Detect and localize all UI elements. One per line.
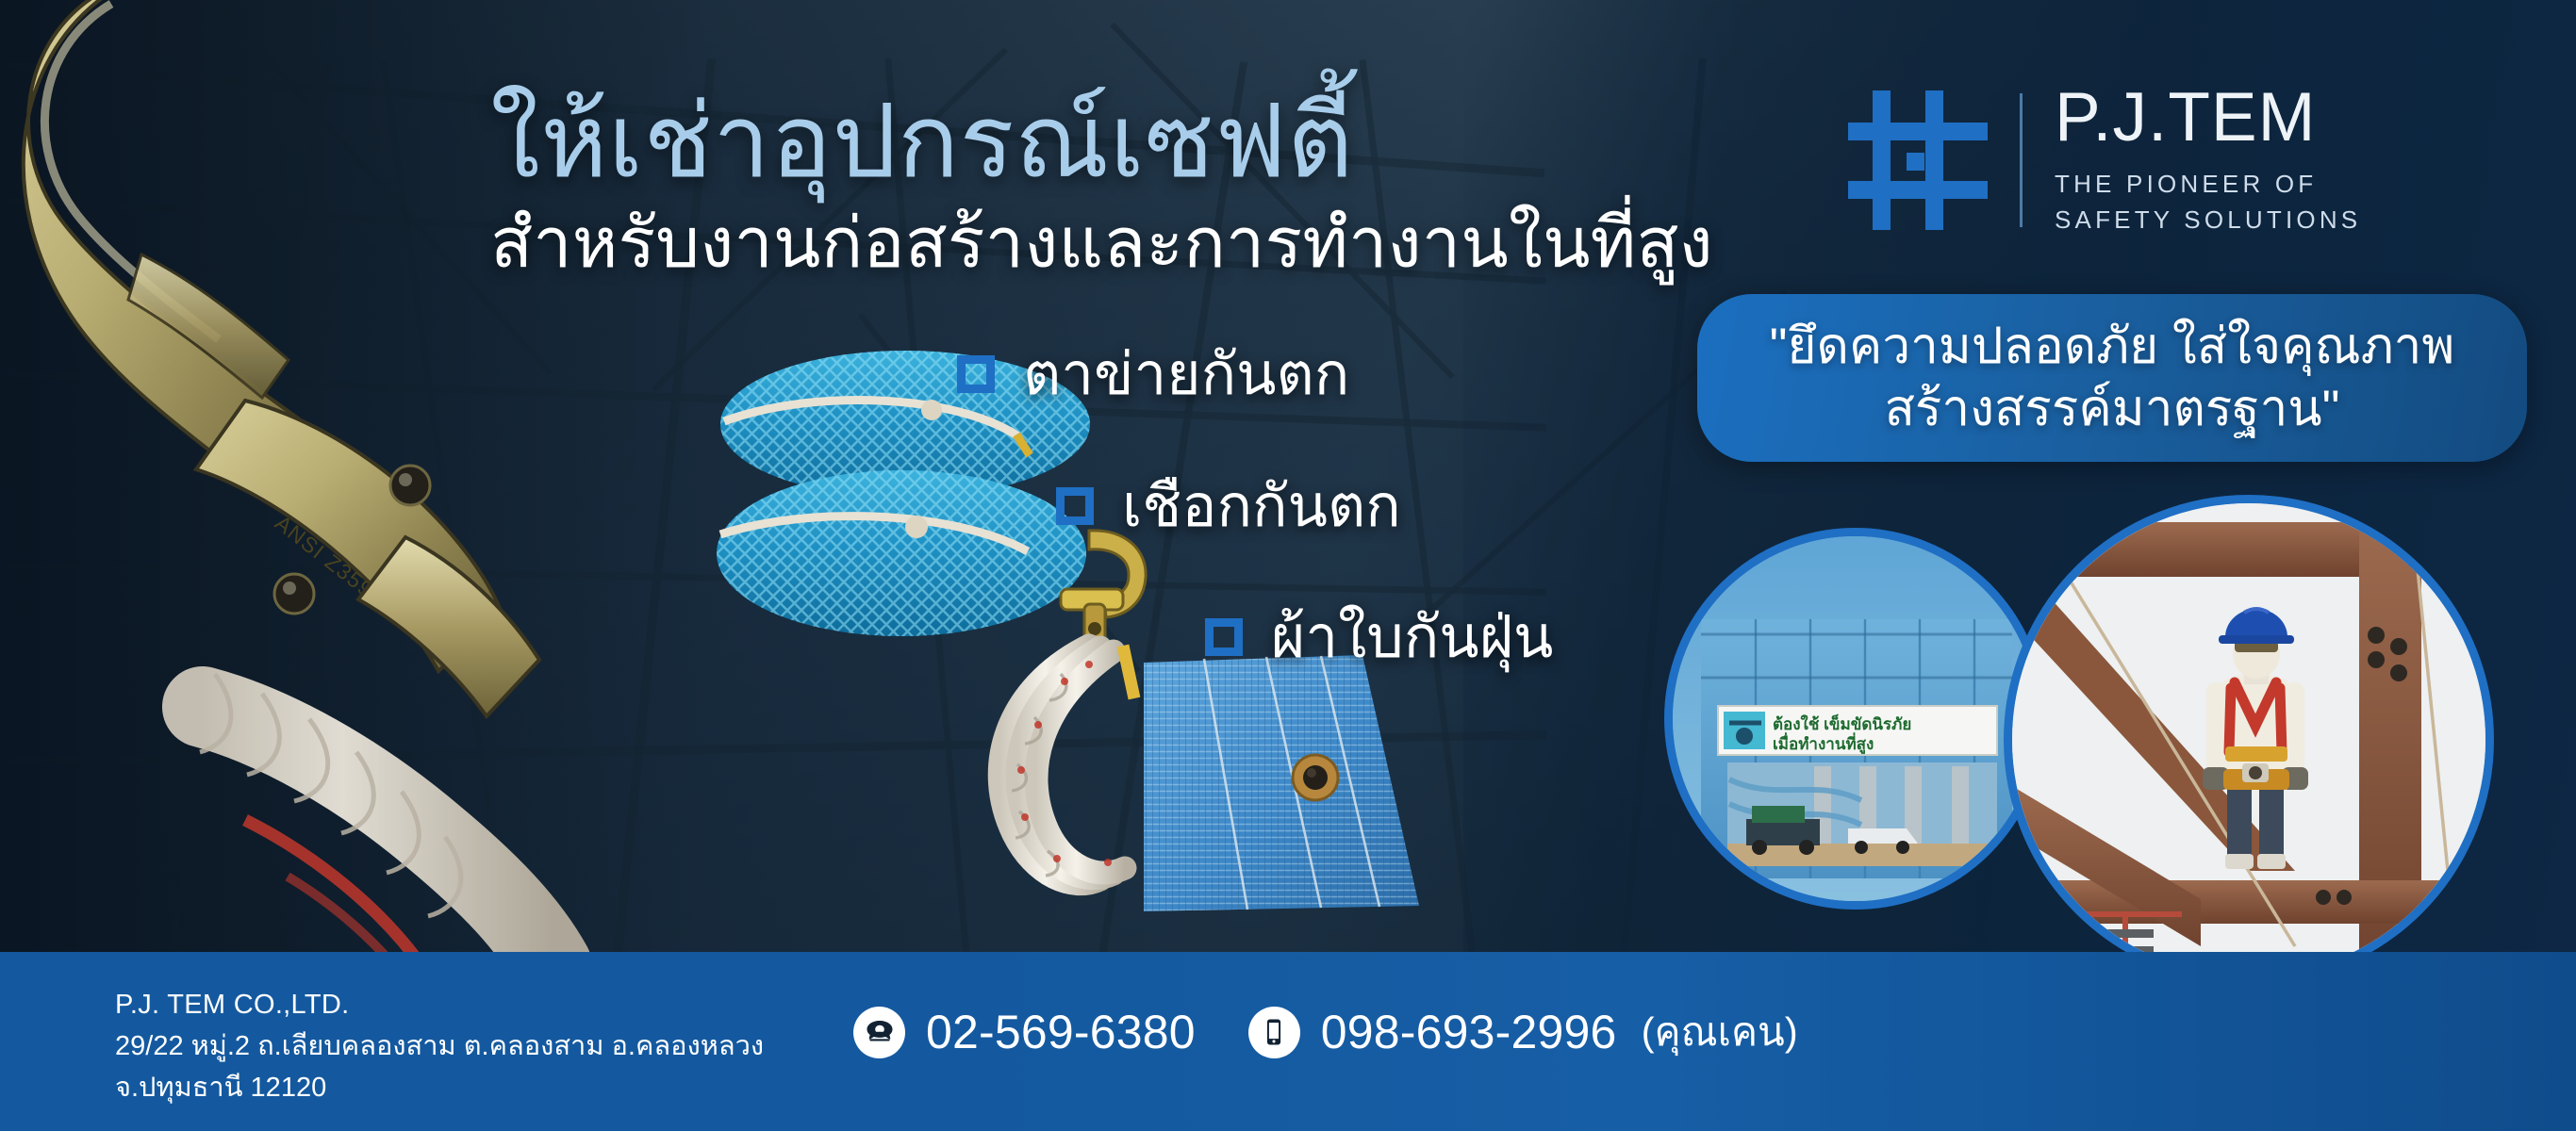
- list-item: ผ้าใบกันฝุ่น: [1205, 591, 1553, 683]
- hero-subtitle: สำหรับงานก่อสร้างและการทำงานในที่สูง: [490, 203, 1754, 284]
- footer-contact-bar: P.J. TEM CO.,LTD. 29/22 หมู่.2 ถ.เลียบคล…: [0, 952, 2576, 1131]
- square-outline-icon: [957, 355, 995, 393]
- landline-contact[interactable]: 02-569-6380: [853, 1005, 1196, 1059]
- logo-divider: [2020, 93, 2023, 227]
- list-item: เชือกกันตก: [1056, 460, 1401, 552]
- mobile-number: 098-693-2996: [1321, 1005, 1617, 1059]
- grid-hash-icon: [1848, 90, 1988, 230]
- mobile-phone-icon: [1248, 1007, 1300, 1058]
- page-title: ให้เช่าอุปกรณ์เซฟตี้: [490, 87, 1754, 197]
- site-banner-line1: ต้องใช้ เข็มขัดนิรภัย: [1773, 713, 1911, 733]
- hero-headline-block: ให้เช่าอุปกรณ์เซฟตี้ สำหรับงานก่อสร้างแล…: [490, 87, 1754, 283]
- list-item-label: ตาข่ายกันตก: [1023, 328, 1349, 420]
- list-item-label: เชือกกันตก: [1122, 460, 1401, 552]
- company-name: P.J. TEM CO.,LTD.: [115, 984, 764, 1025]
- site-banner-line2: เมื่อทำงานที่สูง: [1773, 732, 1874, 755]
- worker-harness-circle-photo: [2004, 495, 2494, 985]
- mobile-contact[interactable]: 098-693-2996 (คุณเคน): [1248, 1001, 1798, 1063]
- contact-person-name: (คุณเคน): [1642, 1001, 1798, 1063]
- address-line-2: จ.ปทุมธานี 12120: [115, 1067, 764, 1108]
- logo-tagline-line1: THE PIONEER OF: [2055, 166, 2361, 202]
- safety-equipment-rental-banner: ANSI Z359.1 23KN: [0, 0, 2576, 1131]
- logo-wordmark: P.J.TEM: [2055, 83, 2361, 152]
- square-outline-icon: [1056, 487, 1094, 525]
- slogan-line2: สร้างสรรค์มาตรฐาน": [1770, 378, 2455, 440]
- site-tarpaulin-circle-photo: ต้องใช้ เข็มขัดนิรภัย เมื่อทำงานที่สูง: [1664, 528, 2046, 910]
- white-rope: [200, 674, 552, 971]
- square-outline-icon: [1205, 618, 1243, 656]
- telephone-icon: [853, 1007, 905, 1058]
- landline-number: 02-569-6380: [926, 1005, 1196, 1059]
- logo-tagline-line2: SAFETY SOLUTIONS: [2055, 202, 2361, 238]
- brand-logo: P.J.TEM THE PIONEER OF SAFETY SOLUTIONS: [1848, 83, 2361, 238]
- address-line-1: 29/22 หมู่.2 ถ.เลียบคลองสาม ต.คลองสาม อ.…: [115, 1025, 764, 1067]
- company-address-block: P.J. TEM CO.,LTD. 29/22 หมู่.2 ถ.เลียบคล…: [115, 984, 764, 1108]
- list-item: ตาข่ายกันตก: [957, 328, 1349, 420]
- rope-lanyard-product-photo: [948, 523, 1202, 910]
- phone-numbers-group: 02-569-6380 098-693-2996 (คุณเคน): [853, 1001, 1798, 1063]
- list-item-label: ผ้าใบกันฝุ่น: [1271, 591, 1553, 683]
- slogan-pill: "ยึดความปลอดภัย ใส่ใจคุณภาพ สร้างสรรค์มา…: [1697, 294, 2527, 462]
- slogan-line1: "ยึดความปลอดภัย ใส่ใจคุณภาพ: [1770, 316, 2455, 378]
